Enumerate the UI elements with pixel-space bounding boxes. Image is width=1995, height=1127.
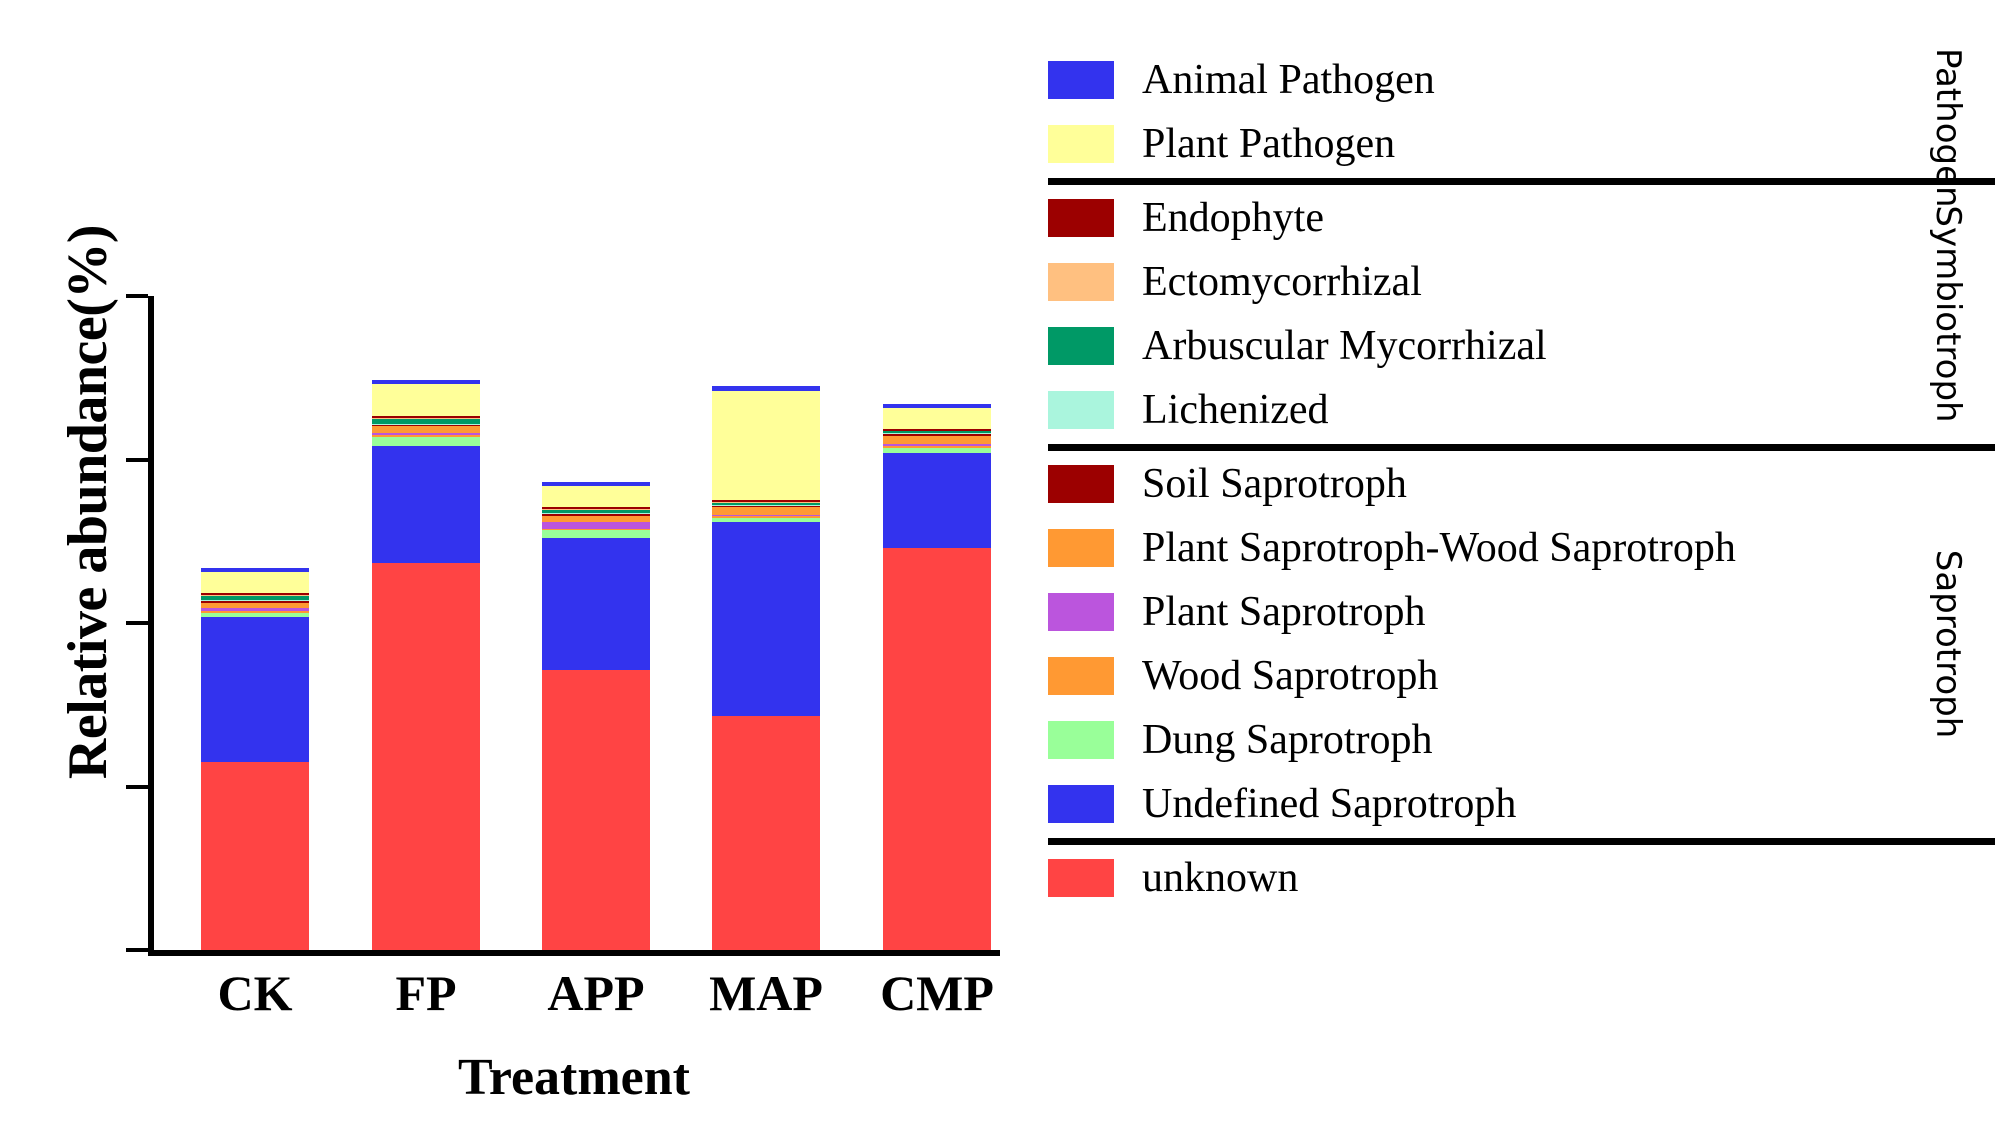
- legend-group-divider: [1048, 178, 1995, 185]
- legend-item[interactable]: Arbuscular Mycorrhizal: [1048, 314, 1928, 378]
- bar-segment: [542, 530, 650, 538]
- chart-panel: Relative abundance(%) 020406080 CKFPAPPM…: [0, 0, 1020, 1127]
- legend-item[interactable]: Plant Saprotroph: [1048, 580, 1928, 644]
- legend-item[interactable]: Soil Saprotroph: [1048, 452, 1928, 516]
- x-tick-label-ck: CK: [218, 964, 293, 1022]
- legend-swatch-icon: [1048, 391, 1114, 429]
- x-axis-label: Treatment: [148, 1048, 1000, 1107]
- legend-swatch-icon: [1048, 263, 1114, 301]
- bar-segment: [372, 563, 480, 950]
- legend-group-label-symbiotroph: Symbiotroph: [1928, 186, 1968, 442]
- bar-segment: [372, 446, 480, 562]
- legend-item[interactable]: Wood Saprotroph: [1048, 644, 1928, 708]
- legend-group-divider: [1048, 444, 1995, 451]
- legend-item[interactable]: Plant Saprotroph-Wood Saprotroph: [1048, 516, 1928, 580]
- x-tick-label-fp: FP: [395, 964, 456, 1022]
- legend-label: Lichenized: [1142, 389, 1329, 431]
- x-tick-label-cmp: CMP: [880, 964, 994, 1022]
- y-tick-mark: [126, 621, 148, 625]
- bar-segment: [883, 453, 991, 548]
- bar-segment: [883, 548, 991, 950]
- bar-segment: [542, 486, 650, 507]
- legend-label: Undefined Saprotroph: [1142, 783, 1516, 825]
- legend-swatch-icon: [1048, 199, 1114, 237]
- bar-segment: [712, 391, 820, 501]
- legend-item[interactable]: Animal Pathogen: [1048, 48, 1928, 112]
- bar-fp[interactable]: [372, 380, 480, 950]
- legend-label: Animal Pathogen: [1142, 59, 1435, 101]
- legend-group-label-saprotroph: Saprotroph: [1928, 452, 1968, 836]
- bar-ck[interactable]: [201, 568, 309, 950]
- bar-segment: [542, 538, 650, 670]
- bar-segment: [542, 670, 650, 950]
- legend-swatch-icon: [1048, 327, 1114, 365]
- y-tick-mark: [126, 785, 148, 789]
- bar-segment: [712, 507, 820, 515]
- legend-label: Soil Saprotroph: [1142, 463, 1407, 505]
- legend-swatch-icon: [1048, 61, 1114, 99]
- bar-segment: [201, 572, 309, 593]
- legend-swatch-icon: [1048, 721, 1114, 759]
- y-tick-mark: [126, 294, 148, 298]
- legend-label: Ectomycorrhizal: [1142, 261, 1422, 303]
- legend-label: unknown: [1142, 857, 1298, 899]
- legend-label: Dung Saprotroph: [1142, 719, 1432, 761]
- x-tick-label-app: APP: [547, 964, 644, 1022]
- y-tick-mark: [126, 458, 148, 462]
- legend-swatch-icon: [1048, 593, 1114, 631]
- bar-map[interactable]: [712, 386, 820, 950]
- legend-group-label-pathogen: Pathogen: [1928, 48, 1968, 176]
- bar-segment: [883, 436, 991, 445]
- bar-segment: [712, 522, 820, 716]
- y-axis-label: Relative abundance(%): [56, 182, 120, 822]
- bar-segment: [372, 384, 480, 417]
- bar-segment: [883, 408, 991, 429]
- bar-app[interactable]: [542, 482, 650, 950]
- legend-item[interactable]: Dung Saprotroph: [1048, 708, 1928, 772]
- legend-label: Plant Saprotroph: [1142, 591, 1425, 633]
- bar-cmp[interactable]: [883, 404, 991, 950]
- legend-item[interactable]: Endophyte: [1048, 186, 1928, 250]
- legend-swatch-icon: [1048, 465, 1114, 503]
- legend-item[interactable]: Undefined Saprotroph: [1048, 772, 1928, 836]
- legend-swatch-icon: [1048, 529, 1114, 567]
- bar-segment: [712, 716, 820, 950]
- legend-item[interactable]: Ectomycorrhizal: [1048, 250, 1928, 314]
- legend-label: Plant Pathogen: [1142, 123, 1395, 165]
- legend-swatch-icon: [1048, 657, 1114, 695]
- legend-swatch-icon: [1048, 859, 1114, 897]
- y-tick-mark: [126, 948, 148, 952]
- x-axis-line: [148, 950, 1000, 956]
- figure-root: Relative abundance(%) 020406080 CKFPAPPM…: [0, 0, 1995, 1127]
- bar-segment: [201, 762, 309, 950]
- plot-area: 020406080 CKFPAPPMAPCMP Treatment: [148, 296, 1000, 956]
- bar-segment: [201, 617, 309, 762]
- legend-swatch-icon: [1048, 125, 1114, 163]
- legend-label: Plant Saprotroph-Wood Saprotroph: [1142, 527, 1736, 569]
- x-tick-label-map: MAP: [709, 964, 823, 1022]
- bar-segment: [542, 516, 650, 523]
- legend-item[interactable]: unknown: [1048, 846, 1928, 910]
- legend-item[interactable]: Plant Pathogen: [1048, 112, 1928, 176]
- legend-swatch-icon: [1048, 785, 1114, 823]
- legend-group-divider: [1048, 838, 1995, 845]
- legend-label: Arbuscular Mycorrhizal: [1142, 325, 1547, 367]
- legend-label: Wood Saprotroph: [1142, 655, 1438, 697]
- bar-segment: [372, 437, 480, 447]
- legend-label: Endophyte: [1142, 197, 1324, 239]
- bar-group: [148, 296, 1000, 950]
- legend-item[interactable]: Lichenized: [1048, 378, 1928, 442]
- legend: Animal PathogenPlant PathogenEndophyteEc…: [1048, 0, 1995, 1127]
